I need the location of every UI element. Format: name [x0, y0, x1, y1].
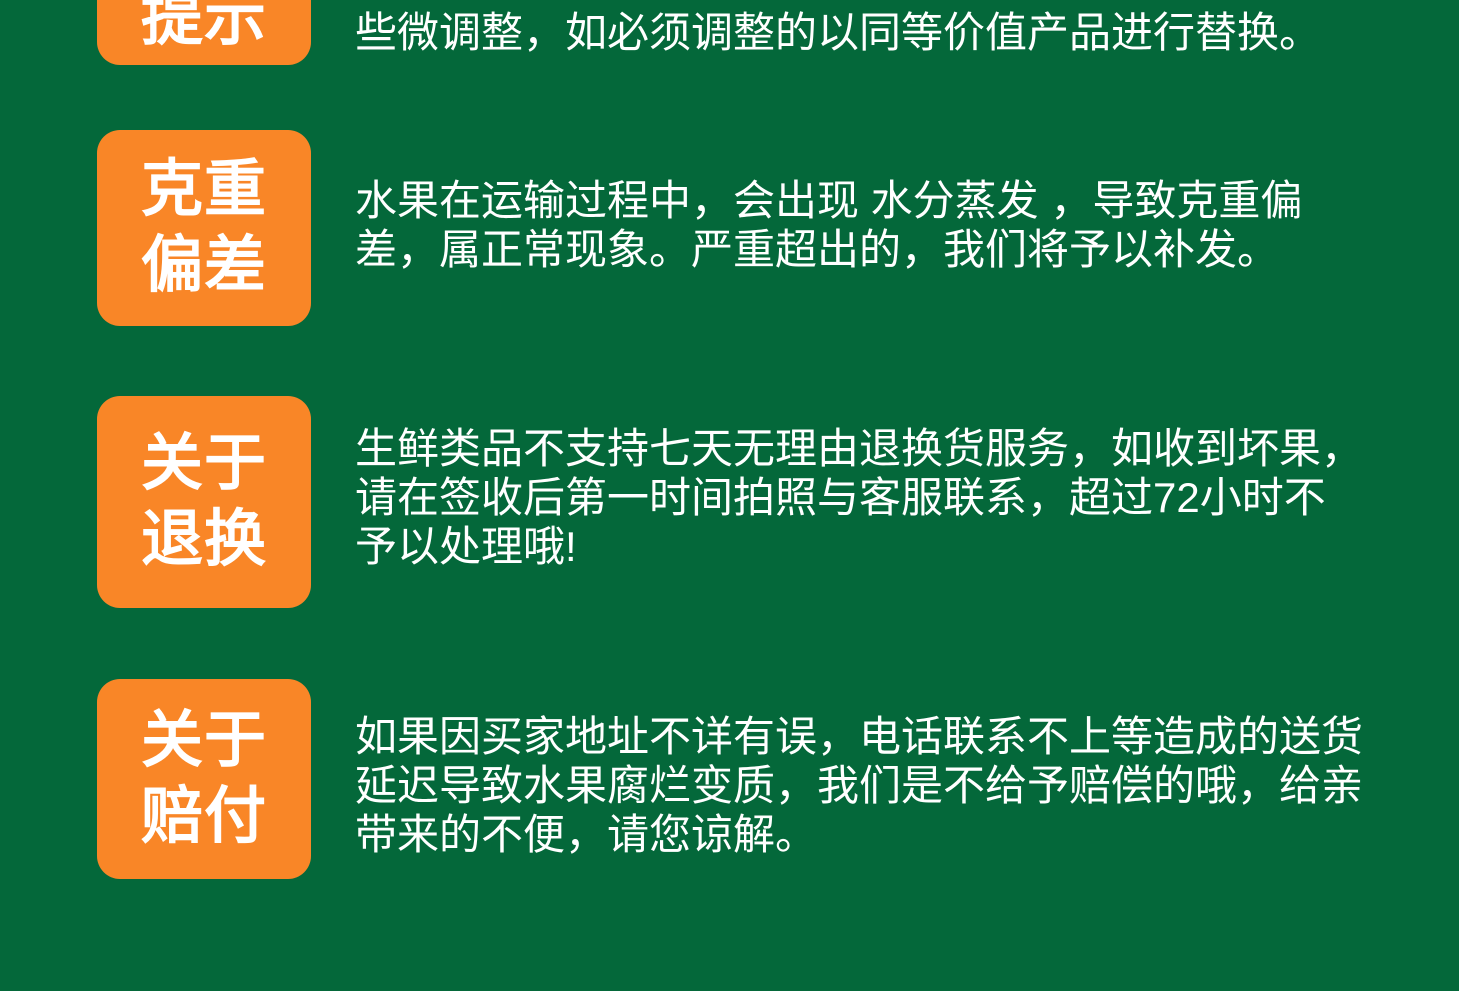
faq-text-tips: 些微调整，如必须调整的以同等价值产品进行替换。	[355, 8, 1367, 57]
badge-tips: 提示	[97, 0, 311, 65]
faq-page: 提示 些微调整，如必须调整的以同等价值产品进行替换。 克重 偏差 水果在运输过程…	[0, 0, 1459, 991]
badge-weight-deviation: 克重 偏差	[97, 130, 311, 326]
badge-tips-line-1: 提示	[141, 0, 267, 57]
badge-weight-deviation-line-1: 克重	[141, 152, 267, 228]
faq-text-compensation: 如果因买家地址不详有误，电话联系不上等造成的送货延迟导致水果腐烂变质，我们是不给…	[355, 712, 1367, 859]
badge-returns-line-1: 关于	[141, 426, 267, 502]
faq-text-weight-deviation: 水果在运输过程中，会出现 水分蒸发 ，导致克重偏差，属正常现象。严重超出的，我们…	[355, 176, 1367, 274]
badge-compensation-line-2: 赔付	[141, 779, 267, 855]
badge-compensation-line-1: 关于	[141, 703, 267, 779]
badge-weight-deviation-line-2: 偏差	[141, 228, 267, 304]
badge-returns: 关于 退换	[97, 396, 311, 608]
faq-text-returns: 生鲜类品不支持七天无理由退换货服务，如收到坏果，请在签收后第一时间拍照与客服联系…	[355, 424, 1367, 571]
badge-returns-line-2: 退换	[141, 502, 267, 578]
badge-compensation: 关于 赔付	[97, 679, 311, 879]
